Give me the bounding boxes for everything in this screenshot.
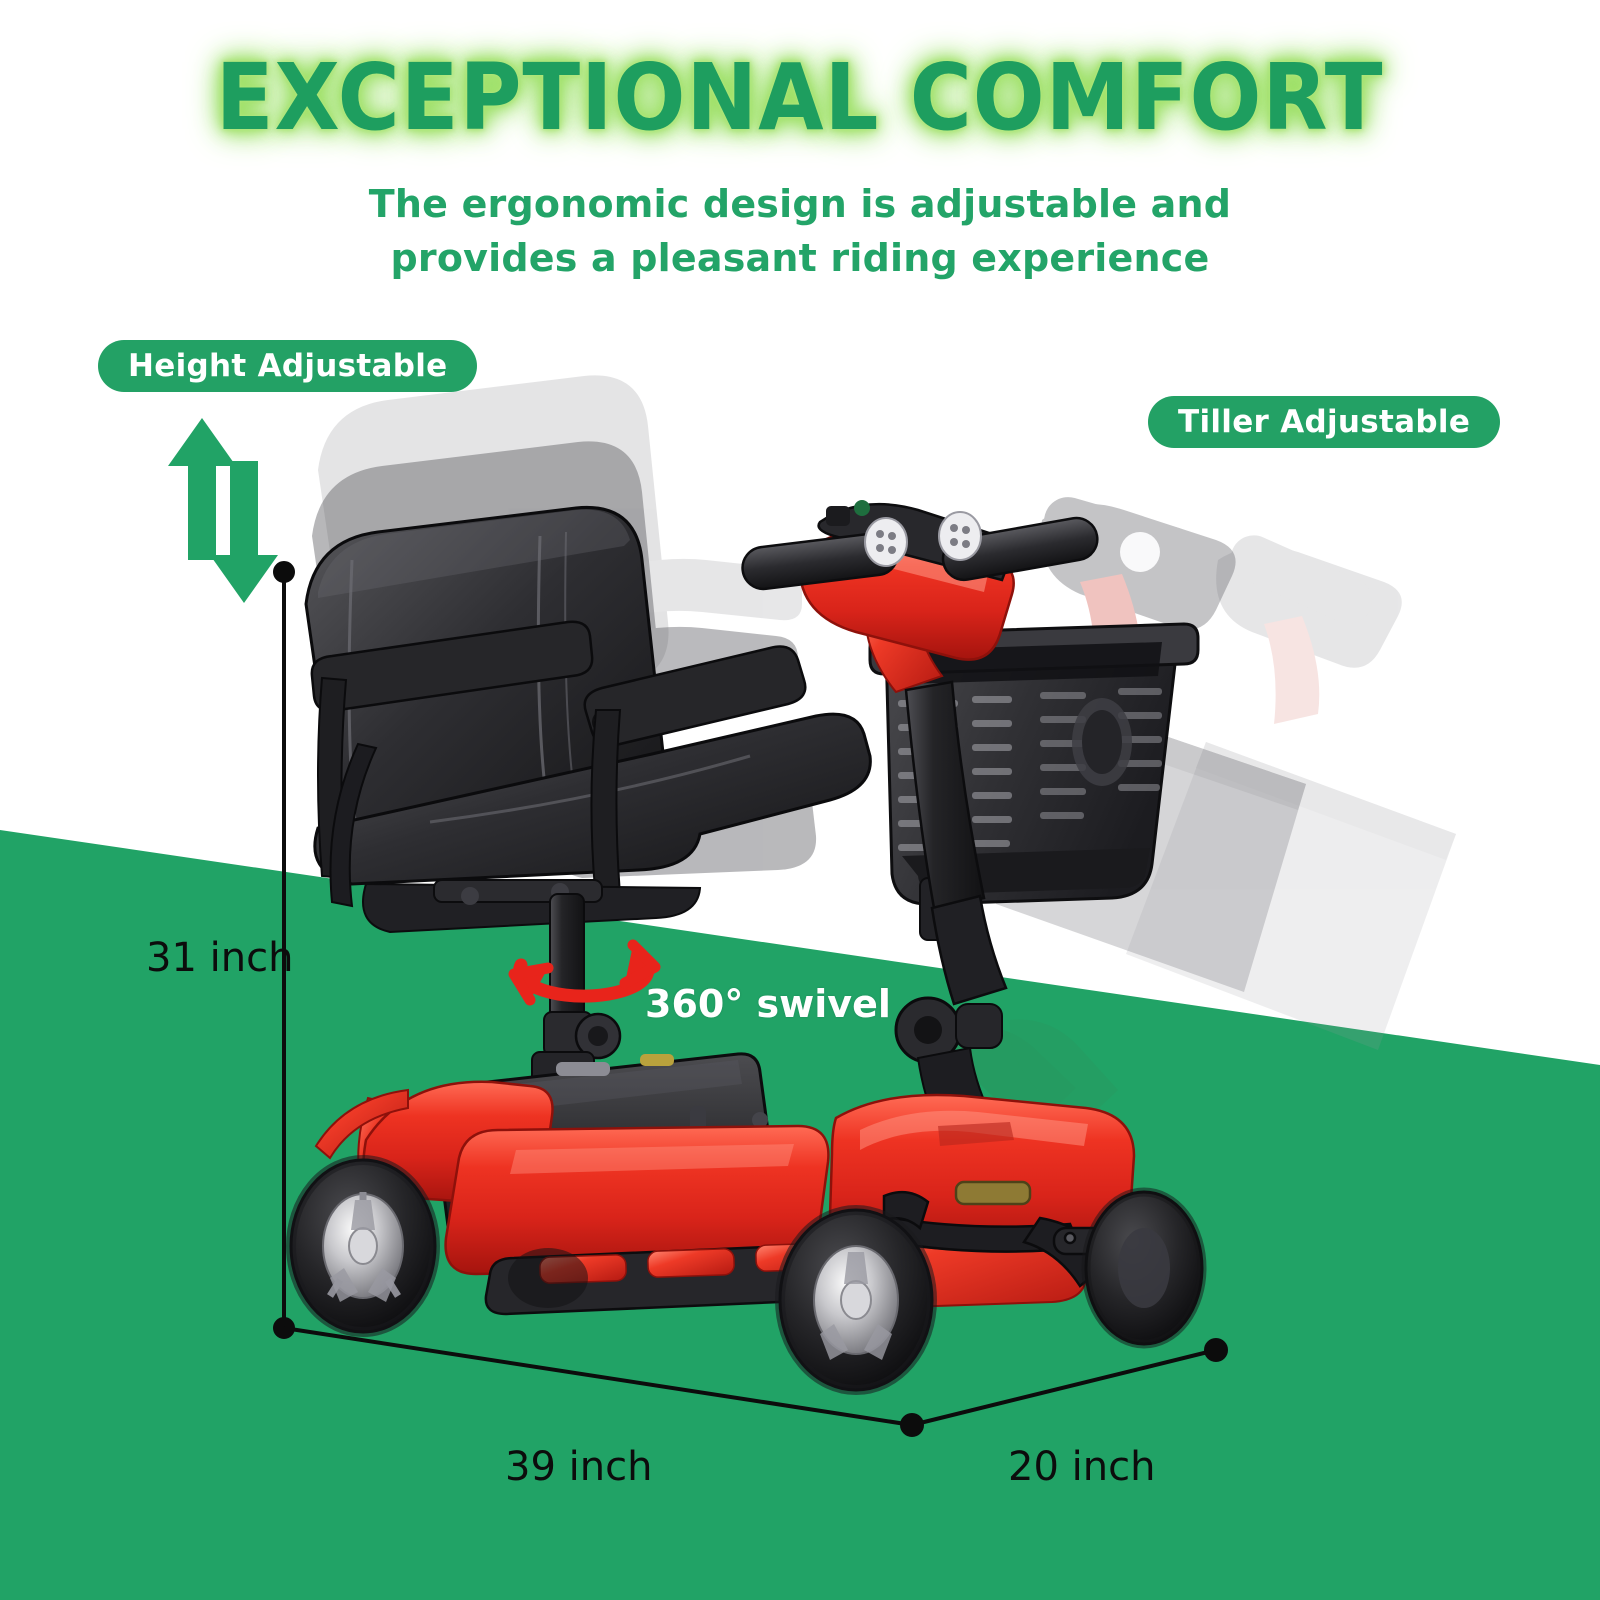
badge-height-adjustable: Height Adjustable	[98, 340, 477, 392]
height-adjust-arrows	[168, 418, 278, 603]
wheel-rear-right	[508, 1248, 588, 1308]
product-illustration	[0, 0, 1600, 1600]
badge-height-label: Height Adjustable	[128, 348, 447, 384]
wheel-front-left	[780, 1210, 932, 1390]
badge-tiller-label: Tiller Adjustable	[1178, 404, 1470, 440]
swivel-annotation-label: 360° swivel	[645, 982, 891, 1026]
wheel-rear-left	[291, 1160, 435, 1332]
arrow-up-icon	[168, 418, 236, 560]
arrow-down-icon	[210, 461, 278, 603]
badge-tiller-adjustable: Tiller Adjustable	[1148, 396, 1500, 448]
dimension-label-height: 31 inch	[146, 935, 293, 981]
dimension-label-length: 39 inch	[505, 1444, 652, 1490]
dimension-label-width: 20 inch	[1008, 1444, 1155, 1490]
marketing-banner: EXCEPTIONAL COMFORT The ergonomic design…	[0, 0, 1600, 1600]
wheel-front-right	[1086, 1192, 1202, 1344]
